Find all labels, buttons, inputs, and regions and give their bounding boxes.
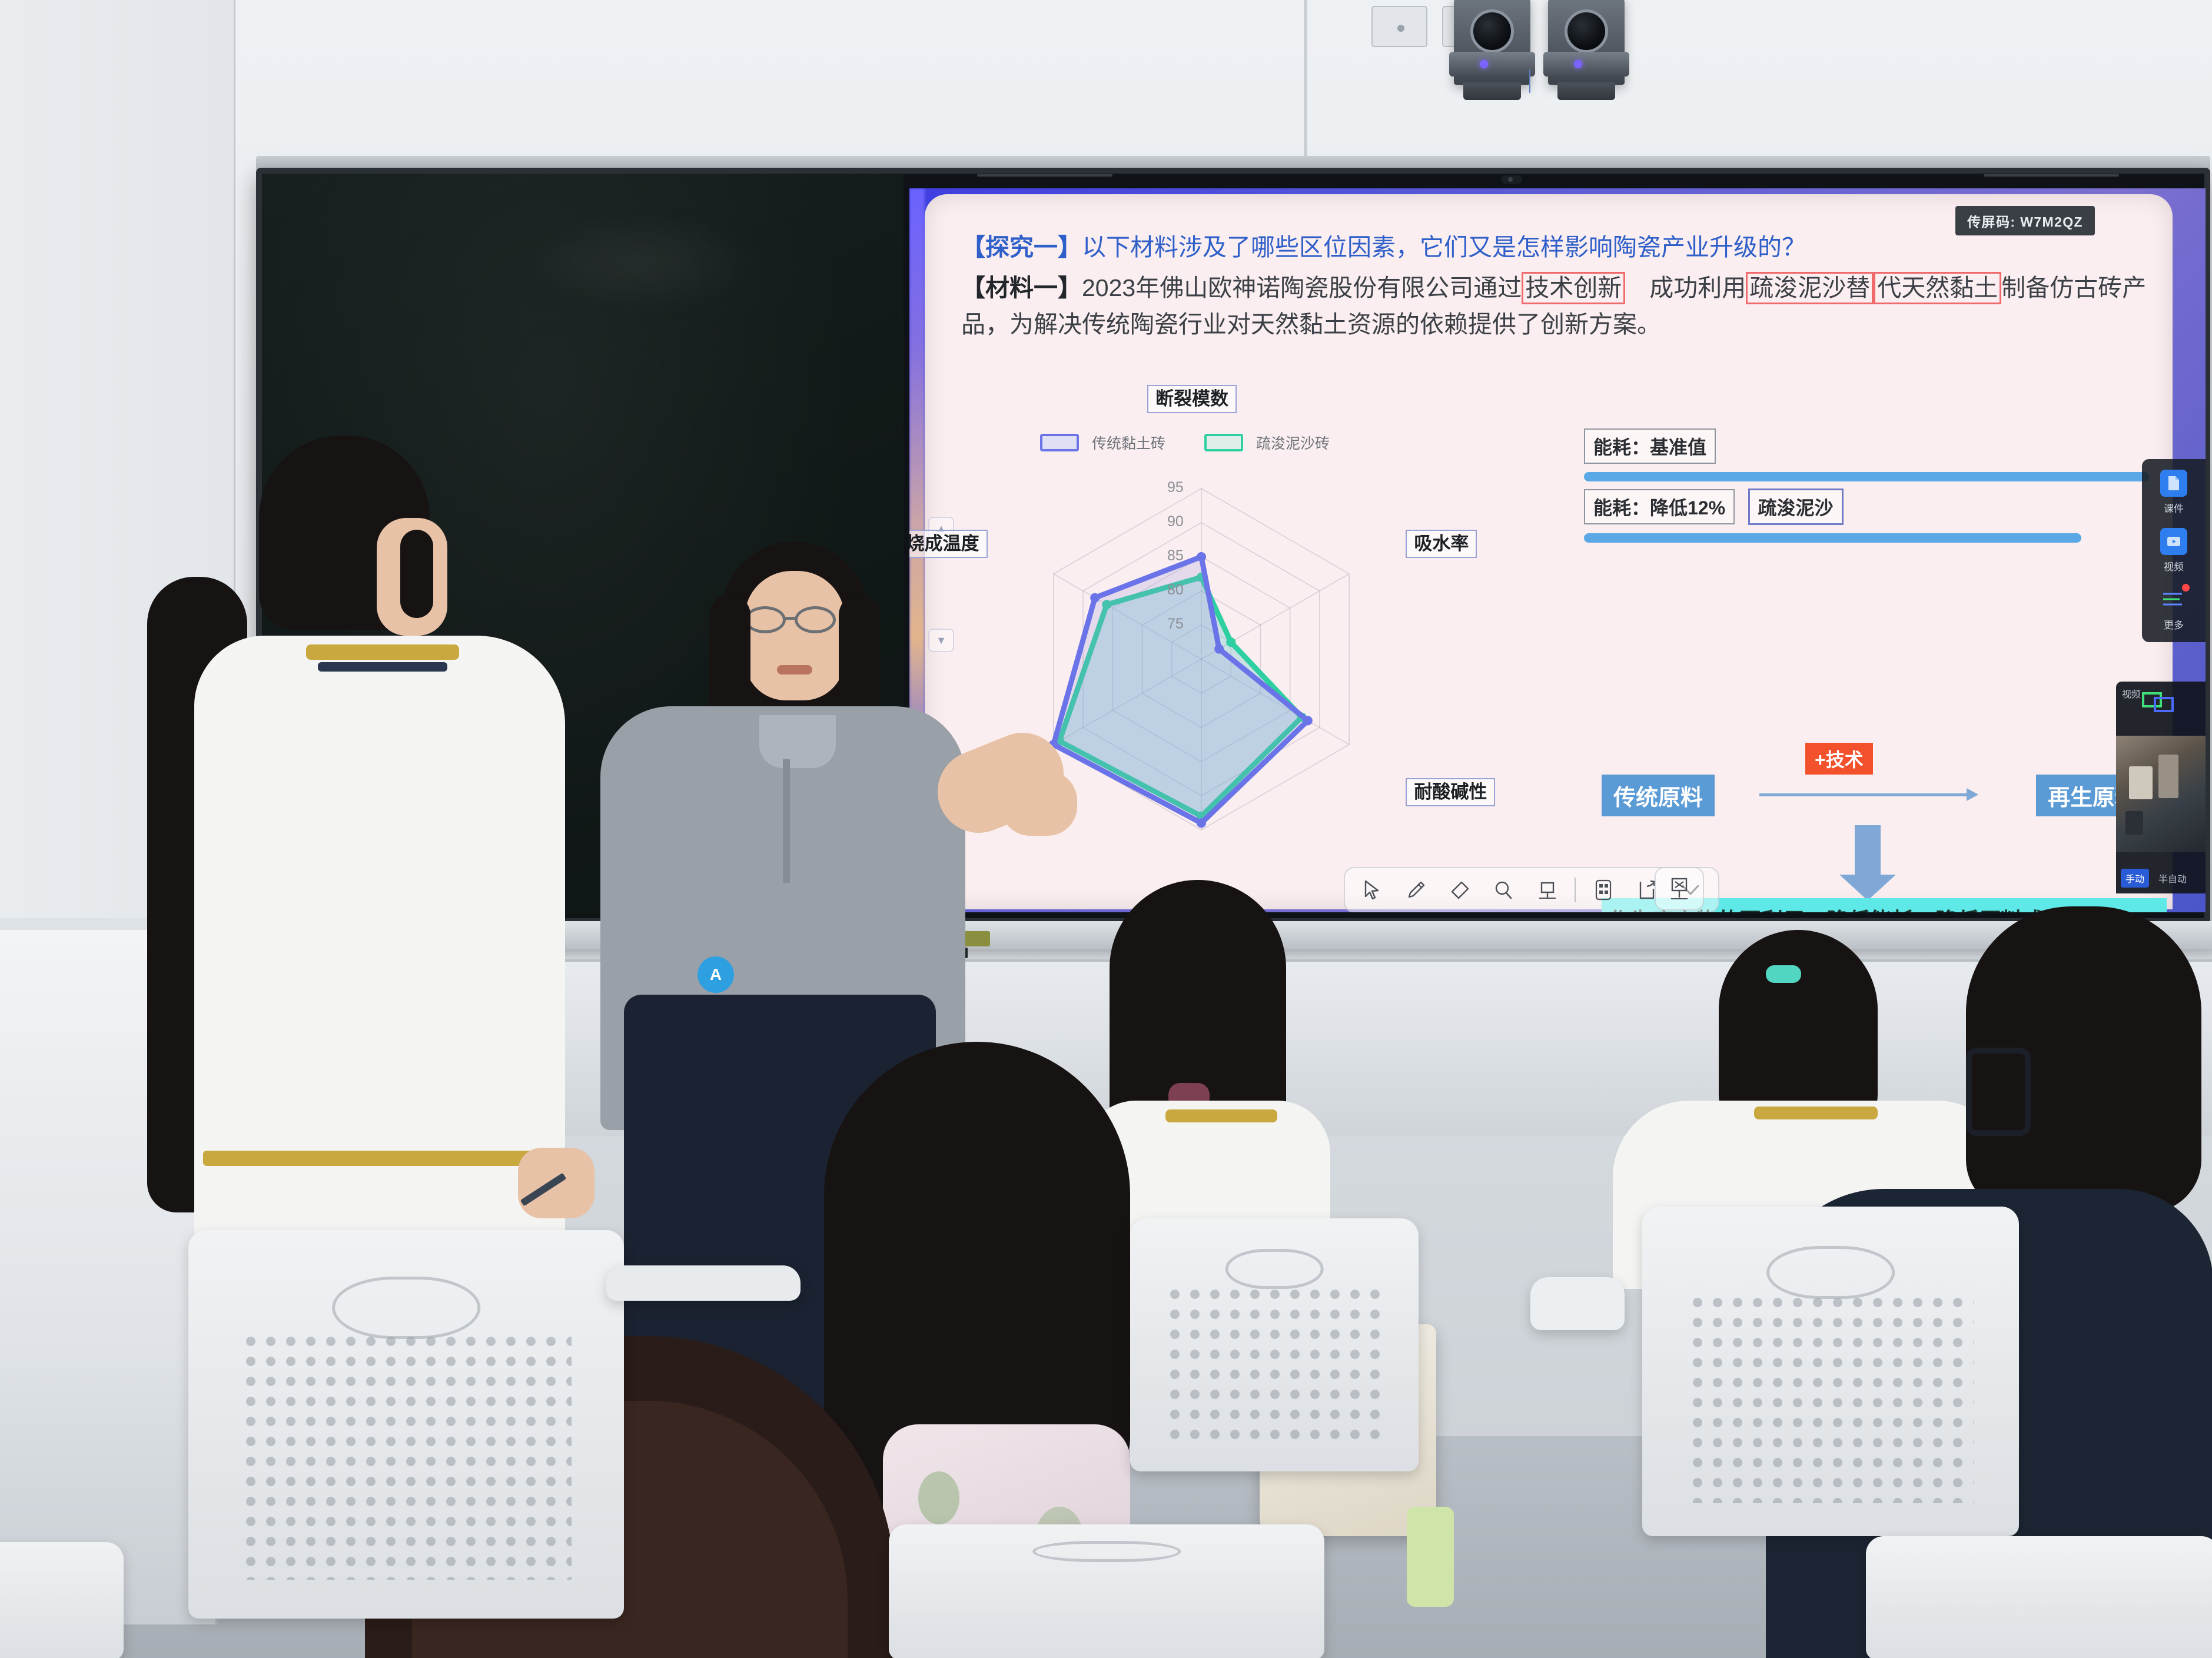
highlight-dredged-sediment: 疏浚泥沙替	[1746, 272, 1874, 304]
chair-3	[1642, 1207, 2019, 1536]
wall-camera-left-icon	[1454, 0, 1530, 85]
desk-book	[606, 1265, 801, 1301]
app-item-video[interactable]: 视频	[2160, 528, 2187, 573]
kpi-label-baseline: 能耗：基准值	[1584, 428, 1716, 464]
kpi-label-reduced: 能耗：降低12%	[1584, 489, 1735, 524]
video-icon	[2160, 528, 2187, 555]
chair-5	[1866, 1536, 2212, 1658]
camera-brand-icon	[2142, 692, 2176, 713]
radar-tick-95: 95	[1167, 479, 1184, 496]
flow-arrow-icon	[1759, 793, 1976, 796]
material-block: 【材料一】2023年佛山欧神诺陶瓷股份有限公司通过技术创新 成功利用疏浚泥沙替代…	[961, 270, 2148, 343]
chair-handle	[1032, 1541, 1181, 1563]
radar-axis-label-5: 烧成温度	[909, 530, 988, 558]
camera-mount	[1557, 82, 1615, 100]
chair-handle	[1225, 1249, 1324, 1290]
highlight-natural-clay: 代天然黏土	[1874, 272, 2001, 304]
camera-band	[1449, 52, 1535, 77]
flow-down-arrow-icon	[1855, 825, 1881, 875]
cursor-tool-icon[interactable]	[1351, 872, 1394, 908]
flow-box-from: 传统原料	[1602, 775, 1715, 816]
flow-diagram: 传统原料 +技术 再生原料	[1602, 759, 2149, 830]
kpi-row-baseline: 能耗：基准值	[1584, 428, 2149, 481]
presenter-badge: A	[698, 956, 734, 993]
toolbar-separator	[1575, 878, 1576, 902]
notification-badge	[2182, 584, 2190, 592]
material-tag: 【材料一】	[961, 274, 1082, 301]
wall-camera-right-icon	[1548, 0, 1625, 85]
board-camera-icon	[1501, 175, 1522, 184]
kpi-tag-dredged: 疏浚泥沙	[1748, 489, 1844, 525]
chair-4	[889, 1524, 1324, 1658]
list-icon	[2160, 586, 2187, 613]
feed-figure-b	[2158, 755, 2178, 798]
chair-perforation	[1688, 1292, 1974, 1503]
camera-mode-semiauto[interactable]: 半自动	[2154, 869, 2191, 888]
camera-mount	[1463, 82, 1521, 100]
exit-presentation-button[interactable]	[1655, 867, 1704, 911]
material-seg4: 方案。	[1589, 311, 1661, 338]
radar-tick-80: 80	[1167, 582, 1184, 599]
bezel-line-right	[1984, 174, 2119, 177]
wall-seam	[1304, 0, 1307, 177]
inquiry-tag: 【探究一】	[961, 234, 1082, 261]
app-label-video: 视频	[2164, 559, 2184, 573]
chair-6	[0, 1542, 124, 1658]
radar-axis-label-1: 吸水率	[1406, 530, 1477, 558]
app-label-courseware: 课件	[2164, 500, 2184, 515]
chair-handle	[332, 1277, 480, 1339]
radar-axis-label-2: 耐酸碱性	[1406, 778, 1495, 806]
chair-1	[188, 1230, 624, 1619]
chair-perforation	[241, 1331, 572, 1580]
app-item-courseware[interactable]: 课件	[2160, 470, 2187, 515]
chalk-smudge	[515, 209, 768, 315]
feed-figure-a	[2129, 766, 2153, 799]
app-item-more[interactable]: 更多	[2160, 586, 2187, 632]
inquiry-line: 【探究一】以下材料涉及了哪些区位因素，它们又是怎样影响陶瓷产业升级的？	[961, 231, 2138, 264]
wall-socket-left	[1371, 6, 1427, 47]
radar-axis-label-0: 断裂模数	[1147, 385, 1237, 413]
chair-2	[1130, 1218, 1419, 1471]
camera-lens	[1470, 9, 1514, 53]
flow-tech-badge: +技术	[1805, 743, 1873, 775]
magnifier-tool-icon[interactable]	[1482, 872, 1525, 908]
camera-mode-manual[interactable]: 手动	[2121, 869, 2149, 888]
radar-tick-85: 85	[1167, 547, 1184, 564]
material-seg2: 成功利用	[1625, 274, 1746, 301]
radar-tick-75: 75	[1167, 616, 1184, 633]
kpi-row-reduced: 能耗：降低12% 疏浚泥沙	[1584, 489, 2149, 543]
chair-perforation	[1165, 1284, 1384, 1446]
classroom-scene: 传屏码: W7M2QZ 【探究一】以下材料涉及了哪些区位因素，它们又是怎样影响陶…	[0, 0, 2212, 1658]
bag-green-pouch	[1407, 1507, 1454, 1607]
eraser-tool-icon[interactable]	[1438, 872, 1482, 908]
smartboard-screen[interactable]: 传屏码: W7M2QZ 【探究一】以下材料涉及了哪些区位因素，它们又是怎样影响陶…	[909, 188, 2206, 912]
app-rail[interactable]: 课件 视频 更多	[2142, 459, 2206, 642]
qrcode-tool-icon[interactable]	[1582, 872, 1625, 908]
camera-mode-group[interactable]: 手动 半自动	[2116, 869, 2206, 888]
inquiry-text: 以下材料涉及了哪些区位因素，它们又是怎样影响陶瓷产业升级的？	[1082, 234, 1806, 261]
camera-feed	[2116, 736, 2206, 852]
kpi-bar-reduced	[1584, 533, 2081, 543]
camera-preview-panel[interactable]: 视频 手动 半自动	[2116, 682, 2206, 893]
whiteboard-tool-icon[interactable]	[1525, 872, 1569, 908]
material-seg1: 2023年佛山欧神诺陶瓷股份有限公司通过	[1082, 274, 1522, 301]
kpi-bar-baseline	[1584, 472, 2149, 481]
camera-wire	[1529, 69, 1530, 93]
highlight-technical-innovation: 技术创新	[1522, 272, 1625, 304]
camera-band	[1543, 52, 1629, 77]
pen-tool-icon[interactable]	[1394, 872, 1438, 908]
app-label-more: 更多	[2164, 617, 2184, 632]
feed-figure-c	[2125, 811, 2143, 835]
slide-card: 传屏码: W7M2QZ 【探究一】以下材料涉及了哪些区位因素，它们又是怎样影响陶…	[925, 194, 2173, 909]
radar-tick-90: 90	[1167, 513, 1184, 530]
chair-handle	[1766, 1246, 1895, 1299]
slide-next-button[interactable]: ▼	[928, 629, 954, 652]
desk-paper	[1530, 1277, 1625, 1330]
document-icon	[2160, 470, 2187, 497]
bezel-line-left	[977, 174, 1112, 177]
camera-lens	[1565, 9, 1608, 53]
